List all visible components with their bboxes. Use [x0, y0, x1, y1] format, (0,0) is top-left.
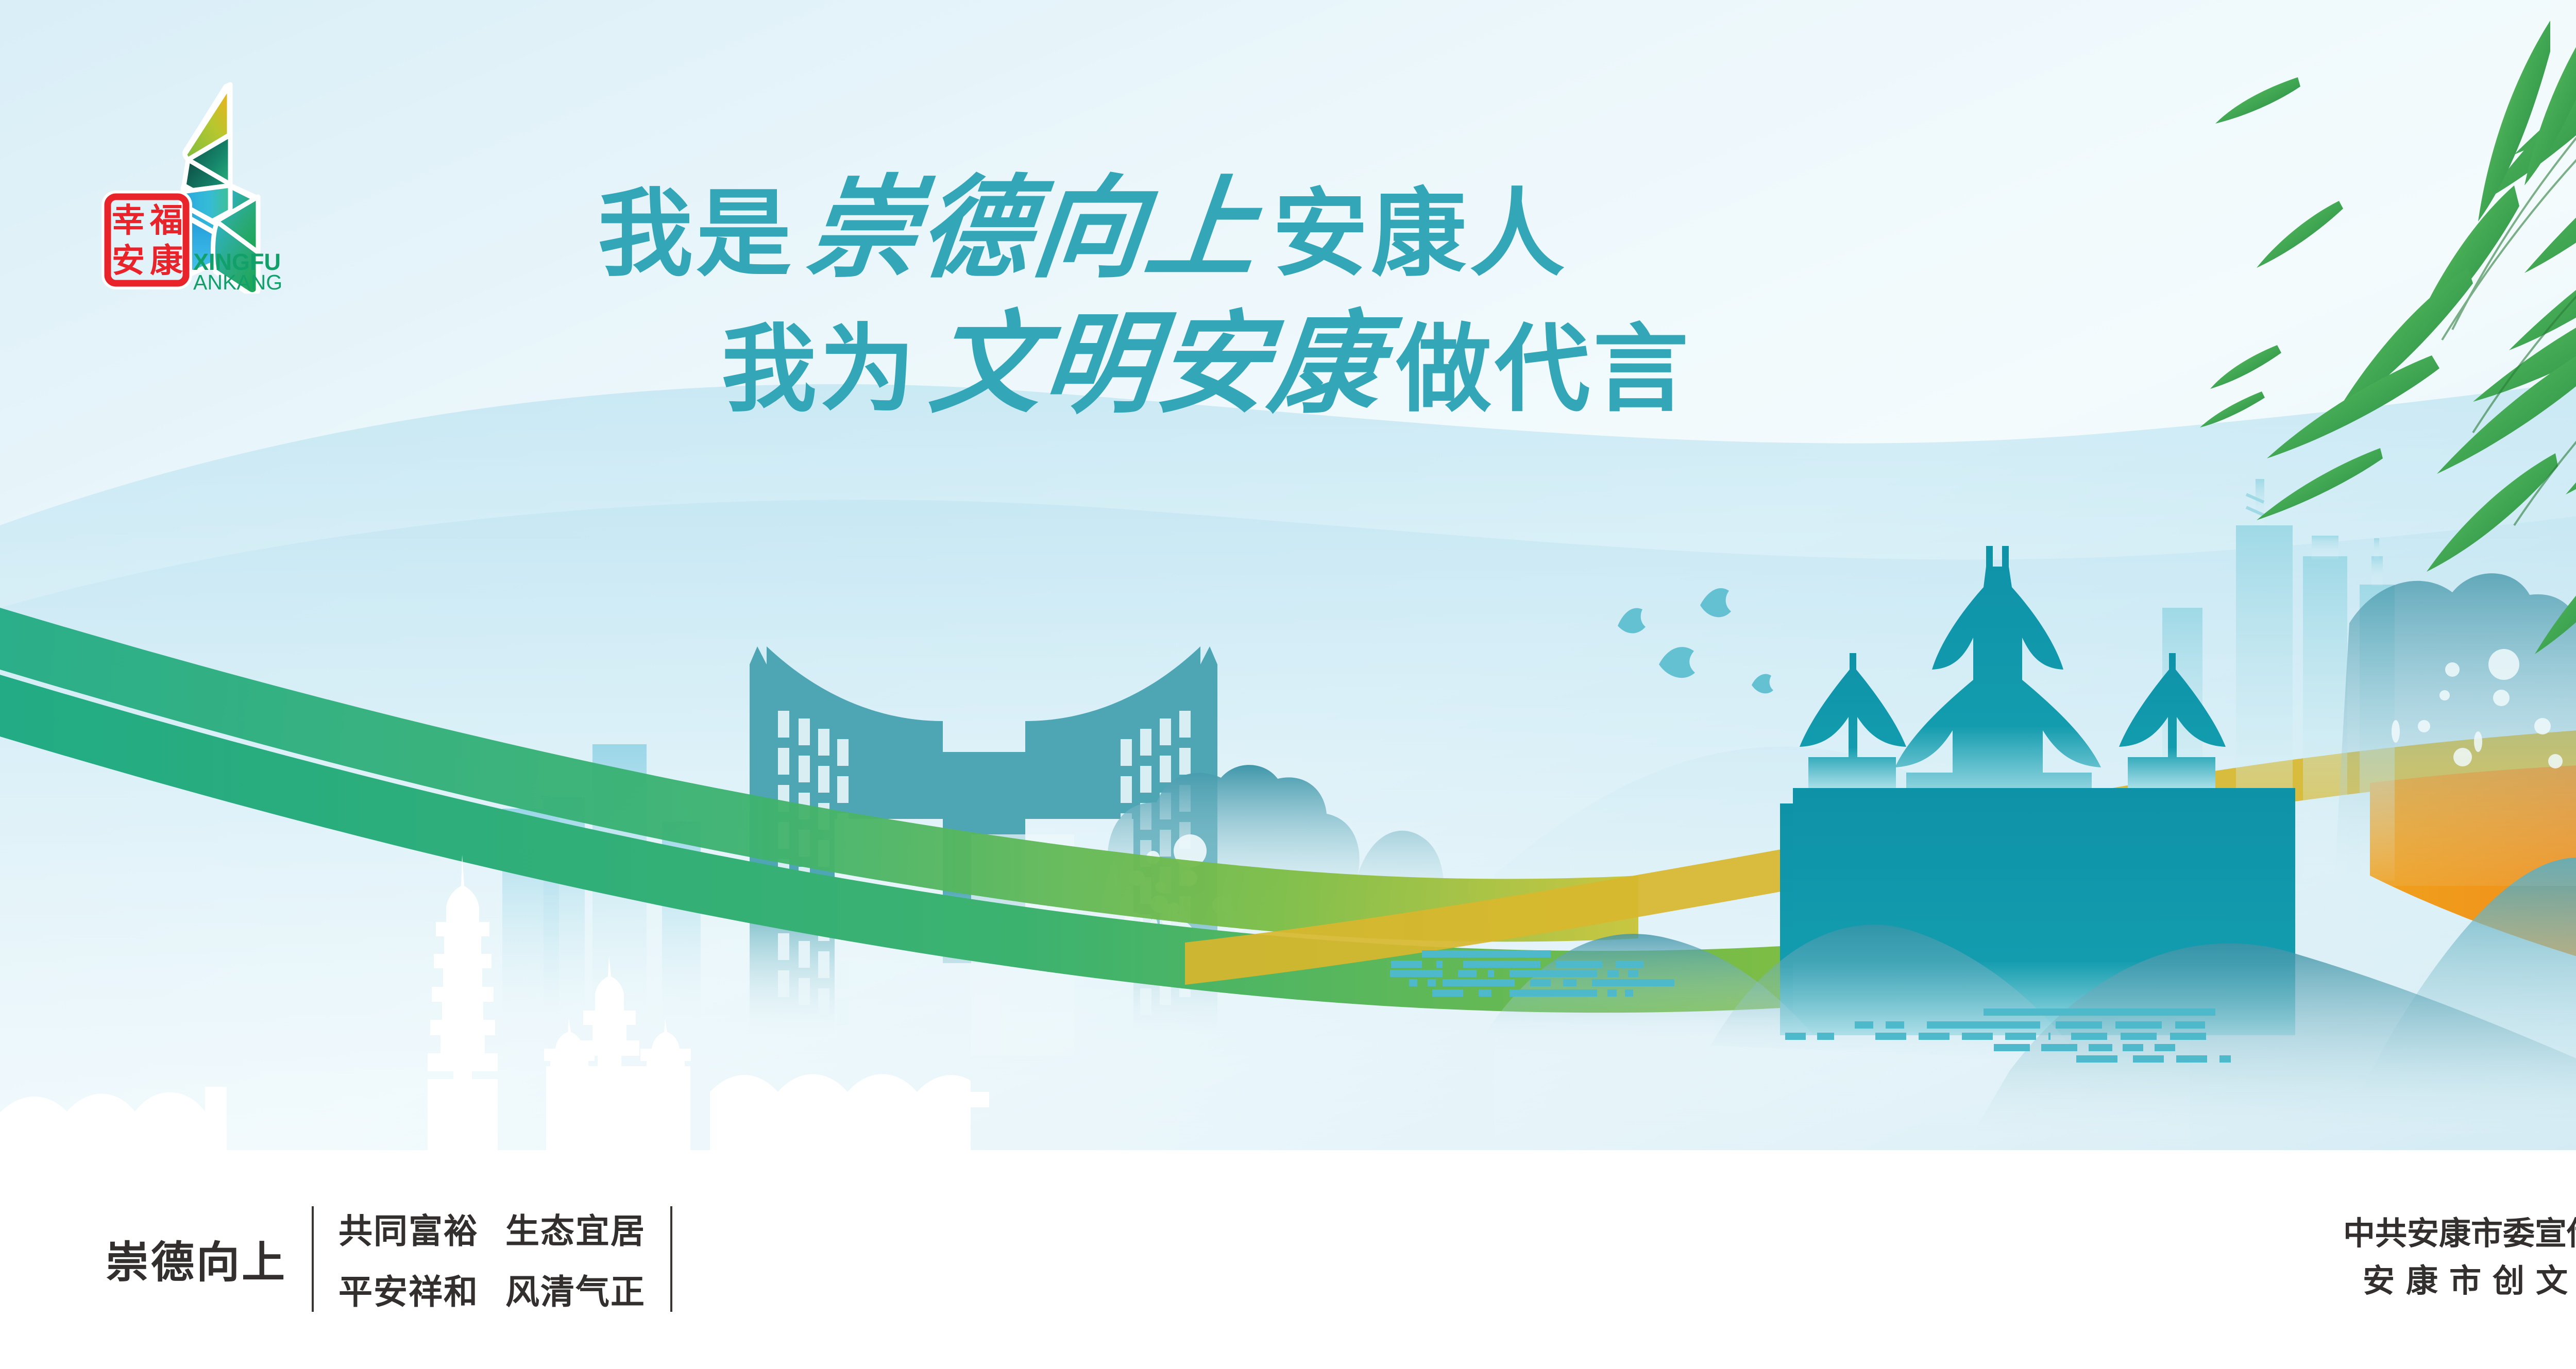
svg-text:幸: 幸	[112, 201, 145, 240]
organization-line-1: 中共安康市委宣传部	[2343, 1210, 2576, 1257]
slogan-cell-1-1: 风清气正	[505, 1264, 646, 1314]
seal: 幸福 安康	[106, 195, 188, 285]
svg-text:福: 福	[149, 201, 183, 240]
headline-line1-brush: 崇德向上	[802, 170, 1265, 286]
headline-line2-suffix: 做代言	[1396, 313, 1691, 425]
footer-organizations: 中共安康市委宣传部 安康市创文办	[2343, 1210, 2576, 1305]
headline-line2-prefix: 我为	[721, 313, 918, 425]
divider-left	[312, 1206, 314, 1312]
headline-line-2: 我为 文明安康 做代言	[567, 305, 2164, 425]
xingfu-ankang-logo: 幸福 安康 XINGFU ANKANG	[100, 57, 389, 294]
poster-root: 幸福 安康 XINGFU ANKANG 我是 崇德向上 安康人 我为 文明	[0, 0, 2576, 1369]
divider-right	[670, 1206, 672, 1312]
svg-text:安: 安	[112, 242, 145, 280]
slogan-cell-0-1: 生态宜居	[505, 1204, 646, 1253]
organization-line-2: 安康市创文办	[2343, 1257, 2576, 1305]
headline-line-1: 我是 崇德向上 安康人	[567, 170, 2164, 290]
footer-left-group: 崇德向上 共同富裕 生态宜居 平安祥和 风清气正	[106, 1204, 697, 1314]
svg-text:康: 康	[150, 242, 183, 280]
headline-line2-brush: 文明安康	[925, 305, 1389, 422]
slogan-cell-1-0: 平安祥和	[338, 1264, 479, 1314]
logo-pinyin-line2: ANKANG	[193, 270, 282, 294]
logo-svg: 幸福 安康 XINGFU ANKANG	[100, 57, 389, 294]
headline-line1-prefix: 我是	[598, 178, 794, 290]
headline-block: 我是 崇德向上 安康人 我为 文明安康 做代言	[567, 170, 2164, 426]
footer-bar: 崇德向上 共同富裕 生态宜居 平安祥和 风清气正 中共安康市委宣传部 安康市创文…	[0, 1150, 2576, 1369]
footer-slogan-main: 崇德向上	[106, 1228, 287, 1290]
headline-line1-suffix: 安康人	[1273, 178, 1568, 290]
slogan-cell-0-0: 共同富裕	[338, 1204, 479, 1253]
footer-slogan-row-2: 平安祥和 风清气正	[338, 1264, 646, 1314]
footer-slogan-row-1: 共同富裕 生态宜居	[338, 1204, 646, 1253]
scene-illustration: 幸福 安康 XINGFU ANKANG 我是 崇德向上 安康人 我为 文明	[0, 0, 2576, 1150]
footer-slogan-grid: 共同富裕 生态宜居 平安祥和 风清气正	[338, 1204, 646, 1314]
